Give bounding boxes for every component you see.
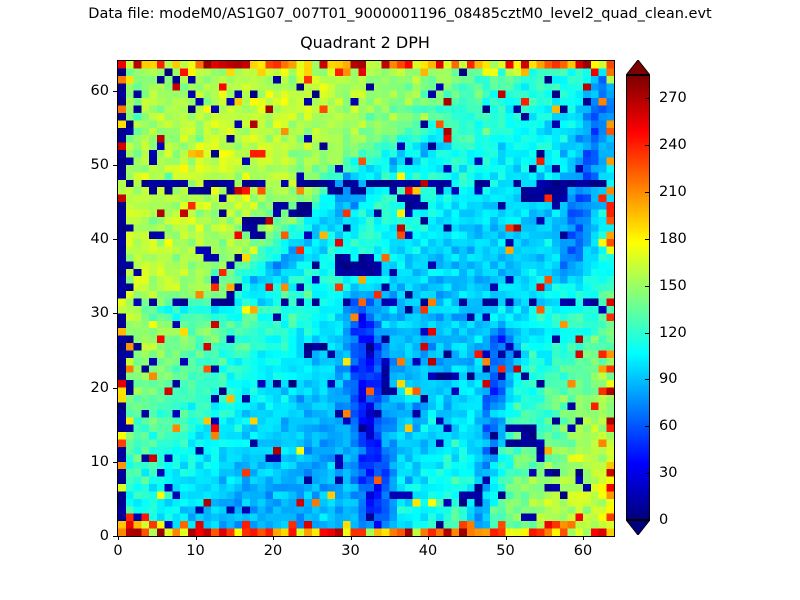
colorbar-extend-max-arrow-icon <box>626 60 650 75</box>
x-tick-label: 40 <box>419 543 437 559</box>
x-tick-label: 20 <box>264 543 282 559</box>
colorbar-tick-mark <box>645 520 650 521</box>
x-tick-label: 60 <box>574 543 592 559</box>
axes-title: Quadrant 2 DPH <box>117 33 613 52</box>
colorbar-tick-label: 240 <box>659 137 687 153</box>
x-tick-mark <box>428 536 429 540</box>
colorbar-tick-label: 210 <box>659 184 687 200</box>
x-tick-mark <box>351 536 352 540</box>
colorbar-tick-mark <box>645 145 650 146</box>
heatmap-image <box>118 61 614 536</box>
x-tick-label: 30 <box>341 543 359 559</box>
figure-suptitle: Data file: modeM0/AS1G07_007T01_90000011… <box>0 6 800 22</box>
colorbar-tick-label: 0 <box>659 512 668 528</box>
colorbar-tick-label: 90 <box>659 371 677 387</box>
colorbar-tick-mark <box>645 98 650 99</box>
y-tick-label: 10 <box>71 454 109 470</box>
x-tick-mark <box>196 536 197 540</box>
x-tick-mark <box>118 536 119 540</box>
y-tick-label: 50 <box>71 157 109 173</box>
y-tick-mark <box>113 388 117 389</box>
figure-canvas: Data file: modeM0/AS1G07_007T01_90000011… <box>0 0 800 600</box>
y-tick-mark <box>113 462 117 463</box>
colorbar-tick-label: 270 <box>659 90 687 106</box>
colorbar-extend-min-arrow-icon <box>626 520 650 535</box>
y-tick-label: 20 <box>71 380 109 396</box>
y-tick-label: 30 <box>71 305 109 321</box>
y-tick-label: 40 <box>71 231 109 247</box>
colorbar-tick-label: 180 <box>659 231 687 247</box>
y-tick-mark <box>113 165 117 166</box>
x-tick-mark <box>583 536 584 540</box>
colorbar-tick-mark <box>645 239 650 240</box>
colorbar-gradient <box>626 75 650 520</box>
colorbar-tick-mark <box>645 473 650 474</box>
colorbar-tick-mark <box>645 333 650 334</box>
y-tick-mark <box>113 536 117 537</box>
x-tick-label: 0 <box>113 543 122 559</box>
y-tick-mark <box>113 239 117 240</box>
y-tick-mark <box>113 313 117 314</box>
colorbar-tick-label: 150 <box>659 278 687 294</box>
x-tick-mark <box>506 536 507 540</box>
colorbar-tick-label: 30 <box>659 465 677 481</box>
colorbar-tick-label: 60 <box>659 418 677 434</box>
colorbar-tick-mark <box>645 379 650 380</box>
heatmap-axes <box>117 60 615 537</box>
colorbar-tick-mark <box>645 192 650 193</box>
colorbar-tick-mark <box>645 286 650 287</box>
x-tick-label: 50 <box>496 543 514 559</box>
colorbar-tick-mark <box>645 426 650 427</box>
y-tick-label: 60 <box>71 83 109 99</box>
y-tick-mark <box>113 91 117 92</box>
x-tick-mark <box>273 536 274 540</box>
colorbar-tick-label: 120 <box>659 325 687 341</box>
x-tick-label: 10 <box>186 543 204 559</box>
y-tick-label: 0 <box>71 528 109 544</box>
colorbar: 0306090120150180210240270 <box>626 60 650 535</box>
